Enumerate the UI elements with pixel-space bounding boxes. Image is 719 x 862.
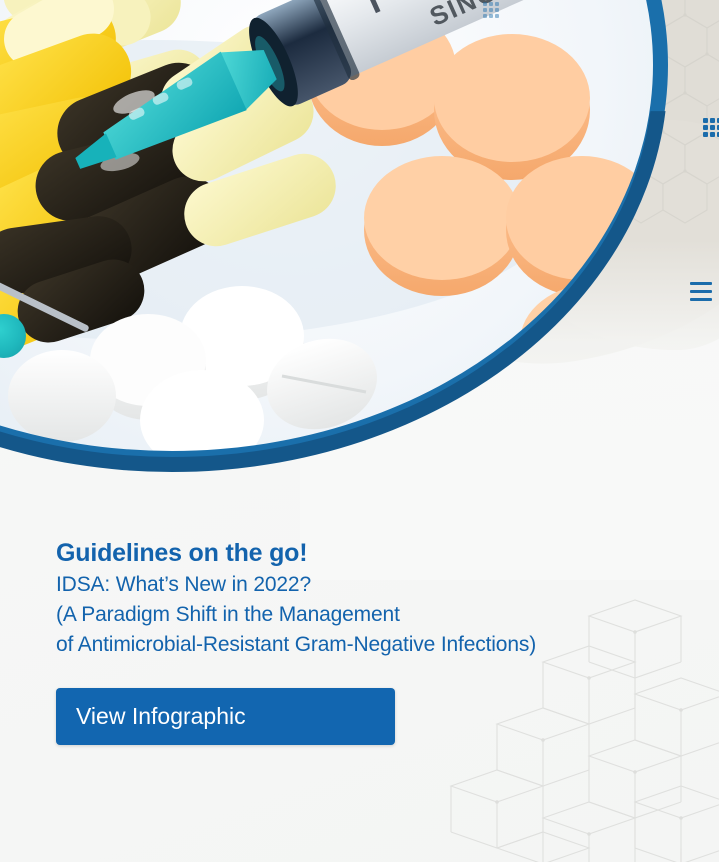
subtitle-line-1: IDSA: What’s New in 2022? bbox=[56, 570, 676, 600]
menu-bar-3 bbox=[690, 298, 712, 301]
apps-grid-icon[interactable] bbox=[703, 118, 719, 137]
page-title: Guidelines on the go! bbox=[56, 538, 676, 569]
dot-grid-icon bbox=[483, 2, 499, 18]
promo-banner: SINGLE bbox=[0, 0, 719, 862]
menu-bar-2 bbox=[690, 290, 712, 293]
menu-bar-1 bbox=[690, 282, 712, 285]
subtitle-line-3: of Antimicrobial-Resistant Gram-Negative… bbox=[56, 630, 676, 660]
subtitle-line-2: (A Paradigm Shift in the Management bbox=[56, 600, 676, 630]
view-infographic-button[interactable]: View Infographic bbox=[56, 688, 395, 745]
hamburger-menu-icon[interactable] bbox=[690, 282, 712, 301]
promo-copy: Guidelines on the go! IDSA: What’s New i… bbox=[56, 538, 676, 659]
